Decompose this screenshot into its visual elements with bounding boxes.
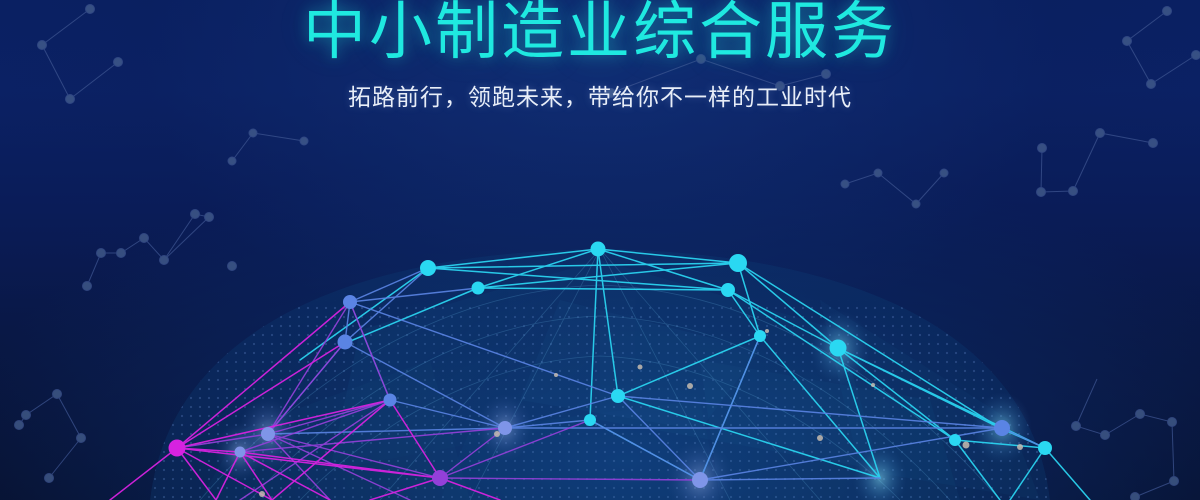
node-glows	[215, 311, 1032, 500]
headline-block: 中小制造业综合服务 拓路前行，领跑未来，带给你不一样的工业时代	[0, 0, 1200, 111]
hero-banner: 中小制造业综合服务 拓路前行，领跑未来，带给你不一样的工业时代	[0, 0, 1200, 500]
network-nodes	[169, 242, 1053, 498]
page-title: 中小制造业综合服务	[0, 0, 1200, 63]
page-subtitle: 拓路前行，领跑未来，带给你不一样的工业时代	[0, 86, 1200, 111]
